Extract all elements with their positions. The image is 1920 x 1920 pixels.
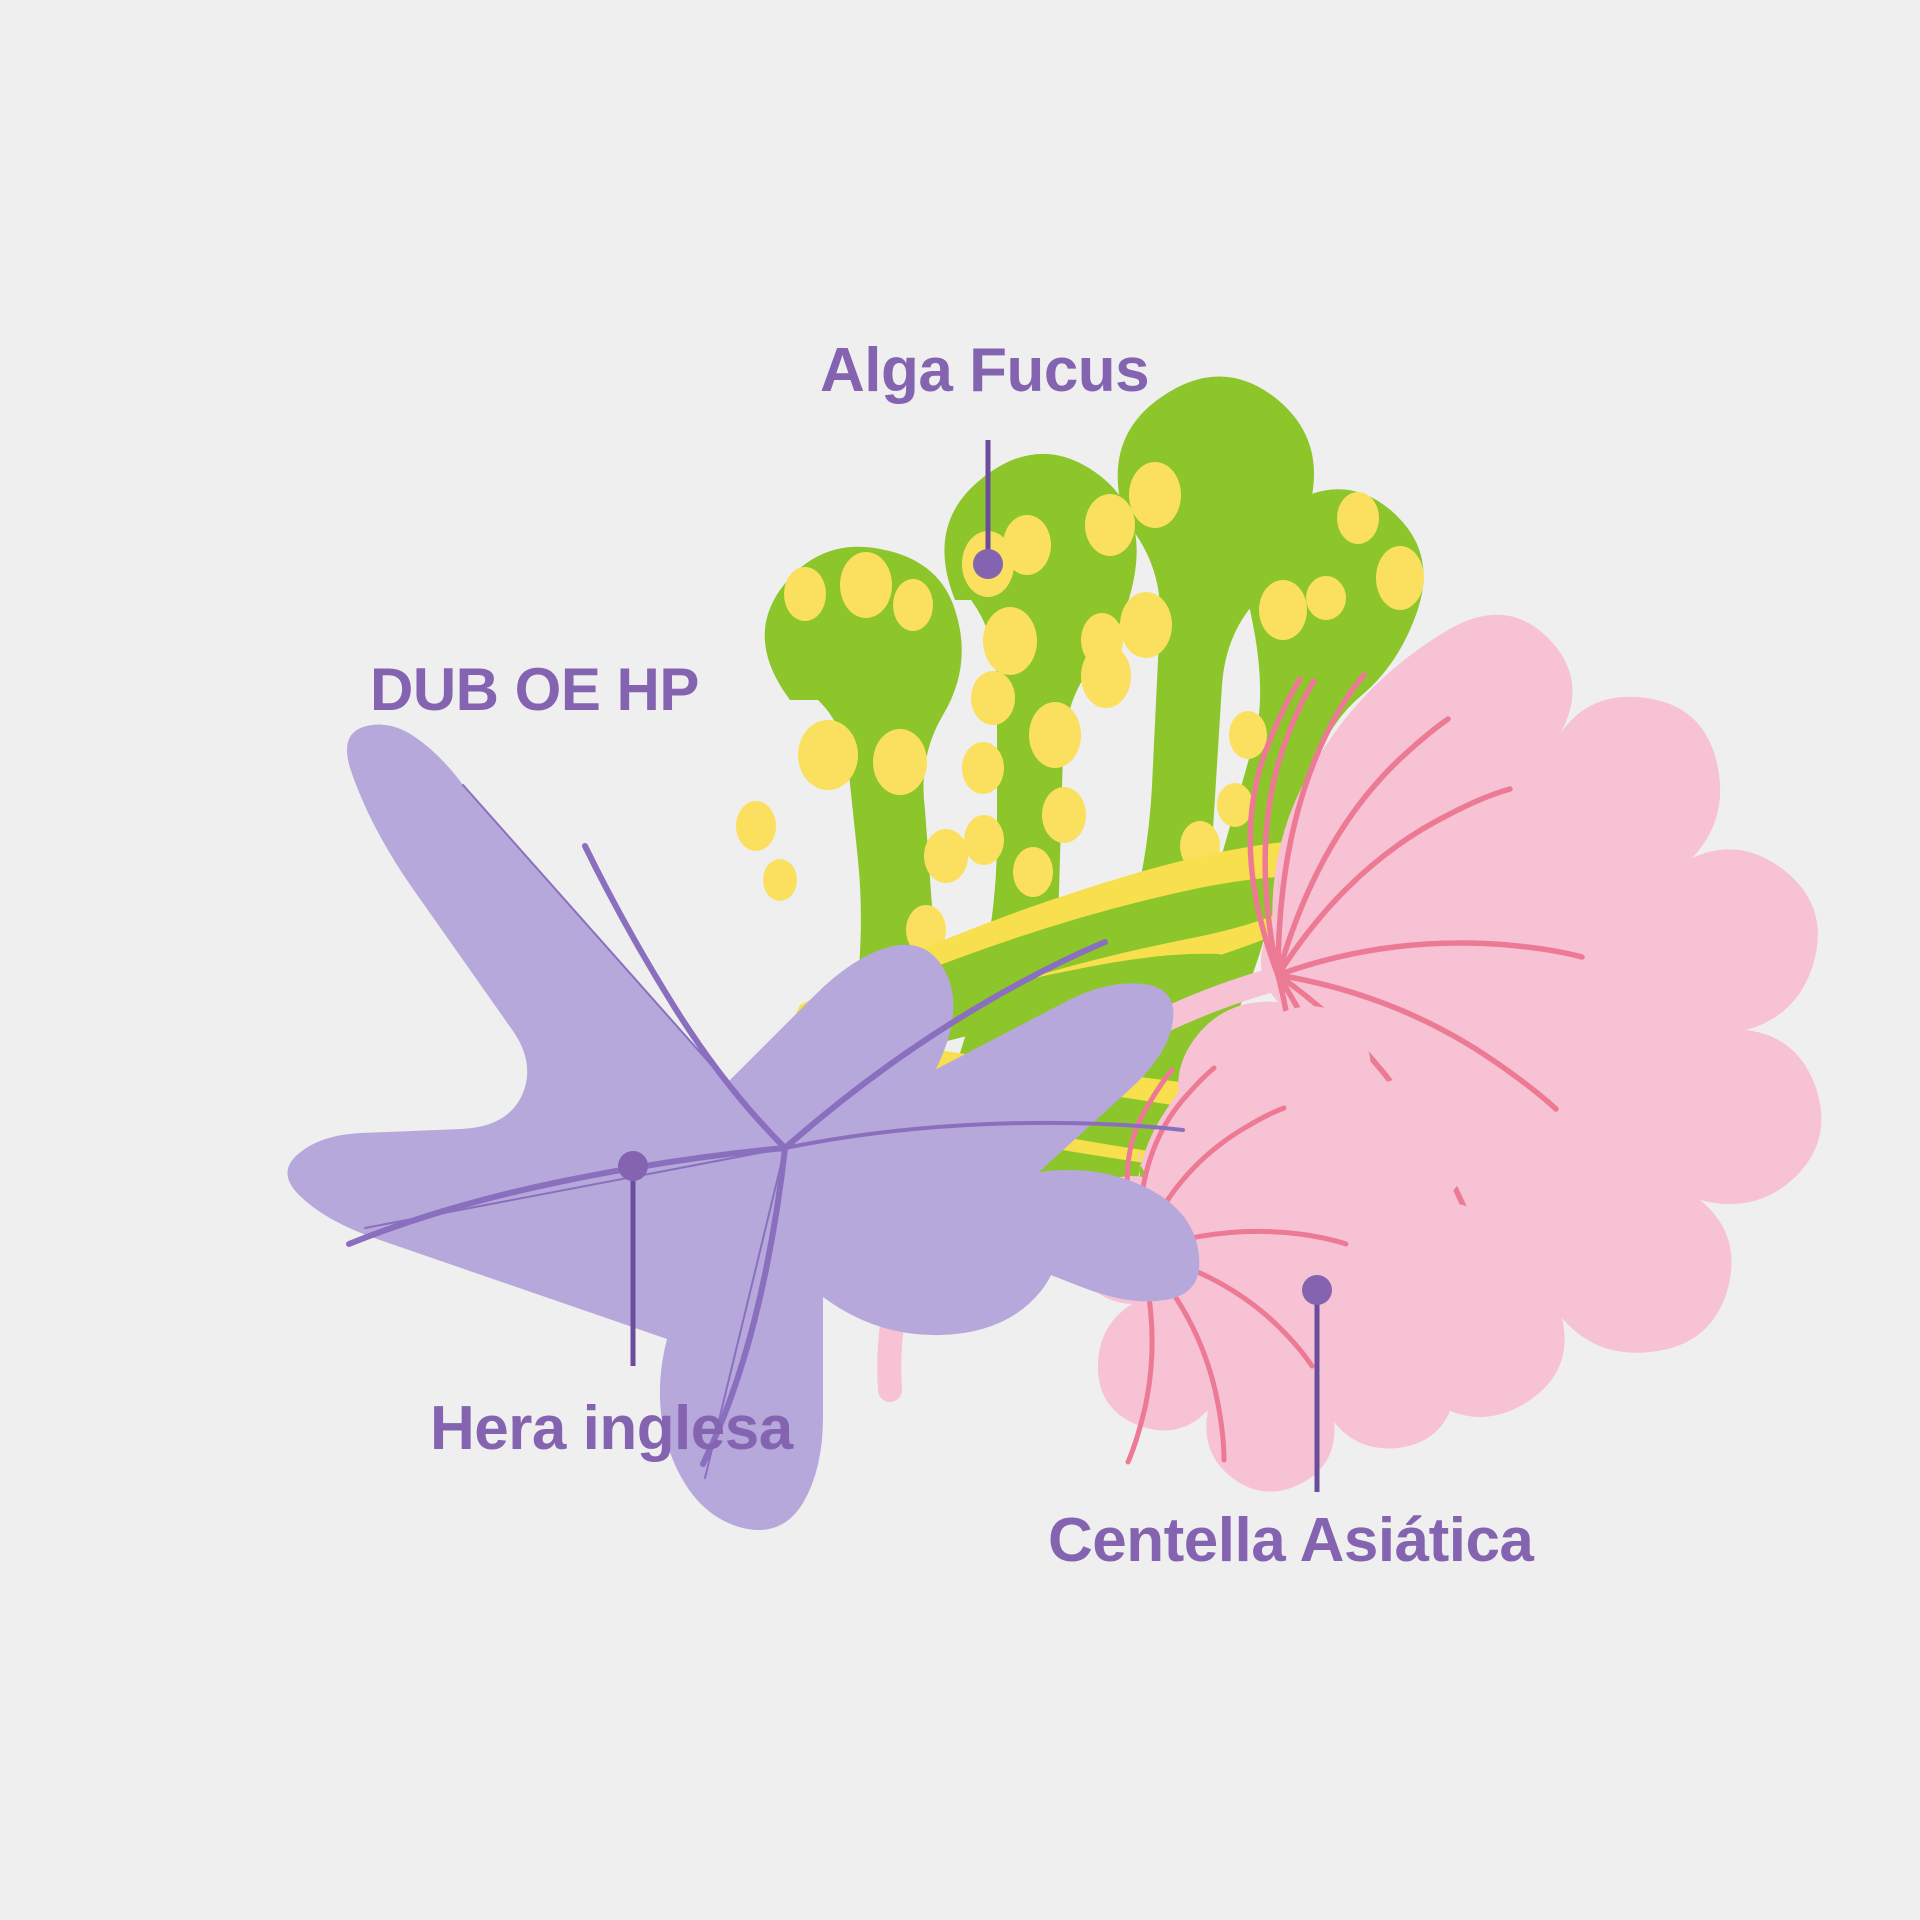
- illustration-canvas: Alga Fucus DUB OE HP Hera inglesa Centel…: [0, 0, 1920, 1920]
- label-hera-inglesa: Hera inglesa: [430, 1398, 793, 1460]
- leader-dot-alga-fucus: [973, 549, 1003, 579]
- leader-dot-hera-inglesa: [618, 1151, 648, 1181]
- label-centella-asiatica: Centella Asiática: [1048, 1510, 1533, 1572]
- botanical-illustration: [0, 0, 1920, 1920]
- label-alga-fucus: Alga Fucus: [820, 340, 1149, 402]
- label-dub-oe-hp: DUB OE HP: [370, 660, 699, 720]
- leader-dot-centella: [1302, 1275, 1332, 1305]
